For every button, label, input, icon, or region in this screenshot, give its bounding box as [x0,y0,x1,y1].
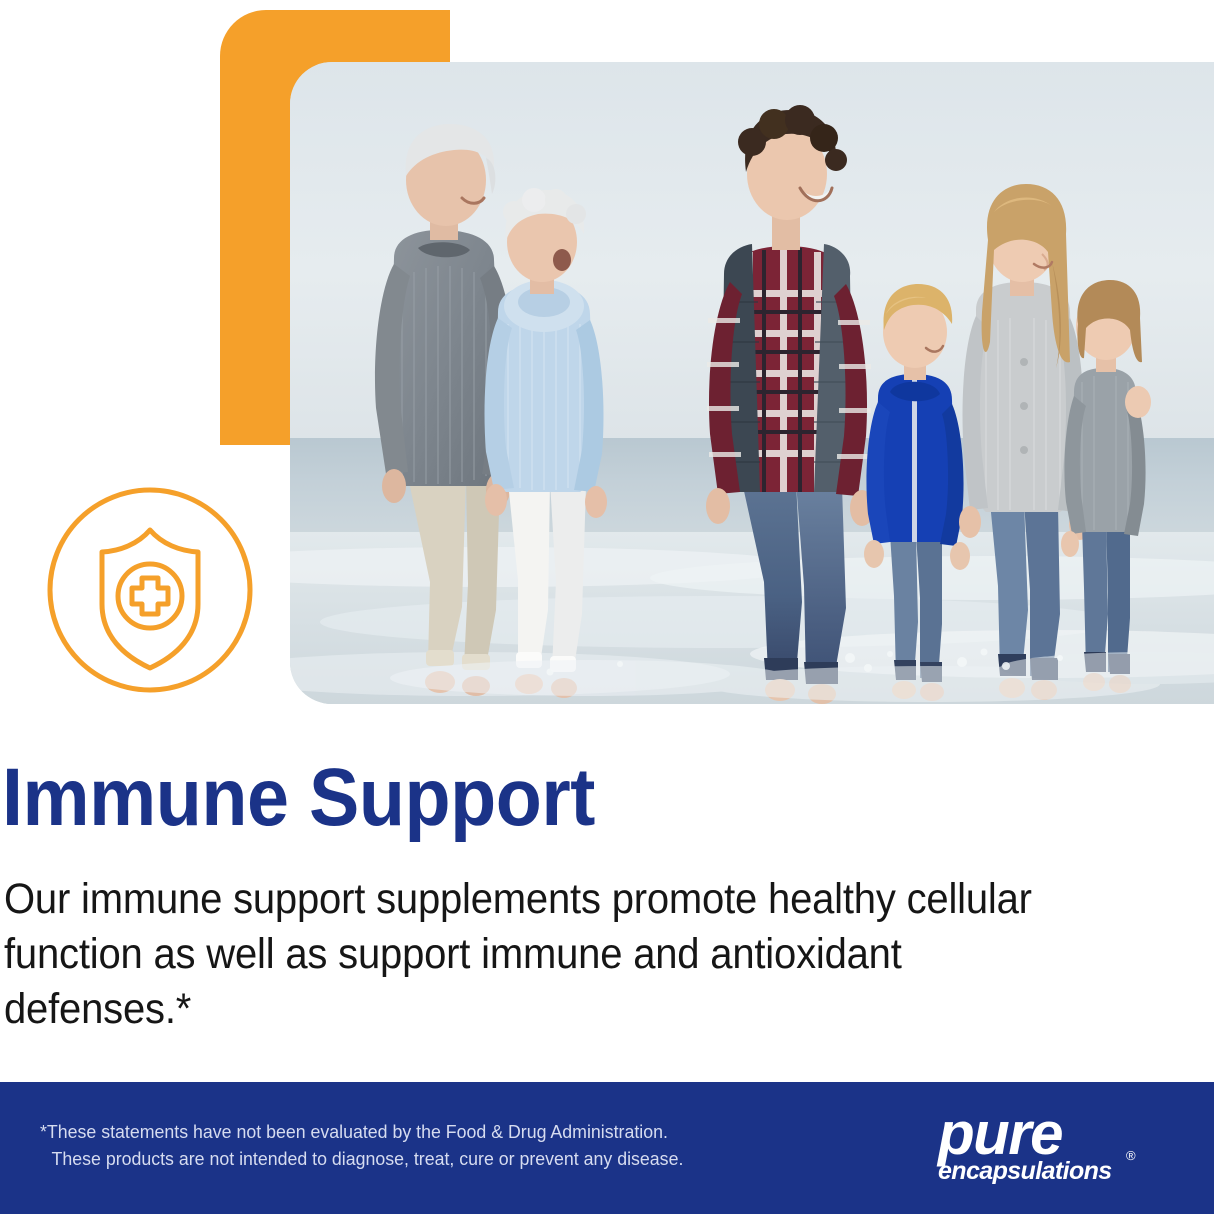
brand-logo-wordmark: pure [938,1104,1062,1164]
registered-trademark-icon: ® [1126,1148,1136,1163]
brand-logo-subtext: encapsulations [938,1158,1112,1184]
family-walking-on-beach-photo [290,62,1214,704]
brand-logo[interactable]: pure encapsulations ® [930,1108,1152,1186]
hero-photo [290,62,1214,704]
shield-medical-cross-icon [46,486,254,694]
product-category-banner: Immune Support Our immune support supple… [0,0,1214,1214]
fda-disclaimer: *These statements have not been evaluate… [40,1118,770,1172]
disclaimer-line-1: *These statements have not been evaluate… [40,1121,668,1142]
category-description: Our immune support supplements promote h… [4,872,1046,1037]
page-title: Immune Support [2,752,595,844]
shield-medical-cross-icon-svg [46,486,254,694]
disclaimer-line-2: These products are not intended to diagn… [40,1145,770,1172]
